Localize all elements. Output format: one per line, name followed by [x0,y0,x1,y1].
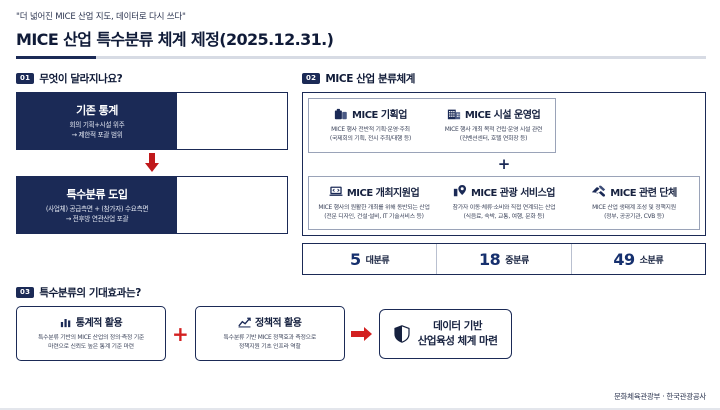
building-icon [447,107,461,121]
existing-stats-title: 기존 통계 [76,102,118,118]
category-mice-facility-operation-head: MICE 시설 운영업 [437,106,550,121]
arrow-right-icon [351,326,373,342]
count-major-categories: 5 대분류 [303,244,436,274]
section-03: 03 특수분류의 기대효과는? 통계적 활용 특수분류 기반의 MICE 산업의… [0,275,720,361]
classification-group-support: MICE 개최지원업 MICE 행사의 원활한 개최를 위해 동반되는 산업 (… [308,176,700,231]
category-mice-facility-operation: MICE 시설 운영업 MICE 행사 개최 목적 건립·운영 시설 관련 (컨… [432,99,555,152]
handshake-icon [591,184,606,198]
category-mice-tourism-service-desc: 참가자 이동·체류·소비와 직접 연계되는 산업 (식음료, 숙박, 교통, 여… [444,204,564,222]
existing-stats-label: 기존 통계 회의 기획+시설 위주 → 제한적 포괄 범위 [17,93,177,149]
arrow-down-icon [16,150,288,176]
special-classification-label: 특수분류 도입 (사업체) 공급측면 + (참가자) 수요측면 → 전후방 연관… [17,177,177,233]
effect-statistical-use-head: 통계적 활용 [23,314,159,329]
existing-stats-subtitle: 회의 기획+시설 위주 → 제한적 포괄 범위 [70,121,125,140]
category-mice-related-organizations-head: MICE 관련 단체 [574,184,694,199]
category-mice-facility-operation-title: MICE 시설 운영업 [465,106,540,121]
classification-counts-bar: 5 대분류 18 중분류 49 소분류 [302,243,706,275]
section-03-number: 03 [16,287,34,298]
page-title: MICE 산업 특수분류 체계 제정(2025.12.31.) [16,26,706,50]
comparison-row-existing: 기존 통계 회의 기획+시설 위주 → 제한적 포괄 범위 [16,92,288,150]
effects-plus-operator: + [172,324,189,344]
section-03-heading: 03 특수분류의 기대효과는? [16,285,706,300]
section-02-number: 02 [302,73,320,84]
category-mice-event-support-desc: MICE 행사의 원활한 개최를 위해 동반되는 산업 (전문 디자인, 건설·… [314,204,434,222]
section-01-title: 무엇이 달라지나요? [39,71,122,86]
category-mice-related-organizations: MICE 관련 단체 MICE 산업 생태계 조성 및 정책지원 (정부, 공공… [569,177,699,230]
count-minor-number: 49 [613,250,634,269]
category-mice-related-organizations-desc: MICE 산업 생태계 조성 및 정책지원 (정부, 공공기관, CVB 등) [574,204,694,222]
count-minor-categories: 49 소분류 [571,244,705,274]
effect-statistical-use-title: 통계적 활용 [76,314,122,329]
briefcase-icon [334,107,348,121]
count-middle-number: 18 [479,250,500,269]
category-mice-event-support: MICE 개최지원업 MICE 행사의 원활한 개최를 위해 동반되는 산업 (… [309,177,439,230]
section-02-heading: 02 MICE 산업 분류체계 [302,71,706,86]
category-mice-facility-operation-desc: MICE 행사 개최 목적 건립·운영 시설 관련 (컨벤션센터, 호텔 연회장… [437,126,550,144]
category-mice-planning-desc: MICE 행사 전반적 기획·운영·주최 (국제회의 기획, 전시 주최/대행 … [314,126,427,144]
category-mice-tourism-service: MICE 관광 서비스업 참가자 이동·체류·소비와 직접 연계되는 산업 (식… [439,177,569,230]
category-mice-tourism-service-title: MICE 관광 서비스업 [471,184,555,199]
section-01-heading: 01 무엇이 달라지나요? [16,71,288,86]
page-header: "더 넓어진 MICE 산업 지도, 데이터로 다시 쓰다" MICE 산업 특… [0,0,720,59]
section-03-title: 특수분류의 기대효과는? [39,285,141,300]
effect-policy-use-desc: 특수분류 기반 MICE 정책효과 측정으로 정책지원 기초 인프라 역할 [202,334,338,352]
effect-policy-use: 정책적 활용 특수분류 기반 MICE 정책효과 측정으로 정책지원 기초 인프… [195,306,345,361]
special-classification-title: 특수분류 도입 [66,186,127,202]
category-mice-related-organizations-title: MICE 관련 단체 [610,184,677,199]
category-mice-planning-head: MICE 기획업 [314,106,427,121]
existing-stats-blank-panel [177,93,287,149]
effect-statistical-use-desc: 특수분류 기반의 MICE 산업의 정의·측정 기준 마련으로 신뢰도 높은 통… [23,334,159,352]
category-mice-tourism-service-head: MICE 관광 서비스업 [444,184,564,199]
count-minor-label: 소분류 [640,253,664,266]
footer-credit: 문화체육관광부 · 한국관광공사 [614,391,706,402]
category-mice-planning: MICE 기획업 MICE 행사 전반적 기획·운영·주최 (국제회의 기획, … [309,99,432,152]
shield-icon [394,325,410,343]
special-classification-subtitle: (사업체) 공급측면 + (참가자) 수요측면 → 전후방 연관산업 포괄 [46,205,148,224]
classification-plus-operator: + [308,153,700,176]
expected-effects-row: 통계적 활용 특수분류 기반의 MICE 산업의 정의·측정 기준 마련으로 신… [16,306,706,361]
laptop-code-icon [329,184,343,198]
category-mice-event-support-title: MICE 개최지원업 [347,184,419,199]
count-middle-categories: 18 중분류 [436,244,570,274]
page-kicker: "더 넓어진 MICE 산업 지도, 데이터로 다시 쓰다" [16,10,706,22]
person-pin-icon [453,184,467,198]
category-mice-event-support-head: MICE 개최지원업 [314,184,434,199]
comparison-row-new: 특수분류 도입 (사업체) 공급측면 + (참가자) 수요측면 → 전후방 연관… [16,176,288,234]
section-02-title: MICE 산업 분류체계 [325,71,415,86]
bar-chart-icon [60,316,72,328]
classification-group-supply: MICE 기획업 MICE 행사 전반적 기획·운영·주최 (국제회의 기획, … [308,98,556,153]
category-mice-planning-title: MICE 기획업 [352,106,407,121]
count-middle-label: 중분류 [505,253,529,266]
section-01: 01 무엇이 달라지나요? 기존 통계 회의 기획+시설 위주 → 제한적 포괄… [16,71,288,275]
classification-framework: MICE 기획업 MICE 행사 전반적 기획·운영·주최 (국제회의 기획, … [302,92,706,236]
special-classification-blank-panel [177,177,287,233]
section-01-number: 01 [16,73,34,84]
title-underline [16,56,706,59]
count-major-label: 대분류 [366,253,390,266]
effect-policy-use-head: 정책적 활용 [202,314,338,329]
final-outcome-text: 데이터 기반 산업육성 체계 마련 [418,319,498,349]
section-02: 02 MICE 산업 분류체계 MICE 기획업 [302,71,706,275]
count-major-number: 5 [350,250,361,269]
effect-statistical-use: 통계적 활용 특수분류 기반의 MICE 산업의 정의·측정 기준 마련으로 신… [16,306,166,361]
final-outcome-box: 데이터 기반 산업육성 체계 마련 [379,309,513,359]
effect-policy-use-title: 정책적 활용 [255,314,301,329]
main-content: 01 무엇이 달라지나요? 기존 통계 회의 기획+시설 위주 → 제한적 포괄… [0,59,720,275]
policy-chart-icon [238,316,251,328]
